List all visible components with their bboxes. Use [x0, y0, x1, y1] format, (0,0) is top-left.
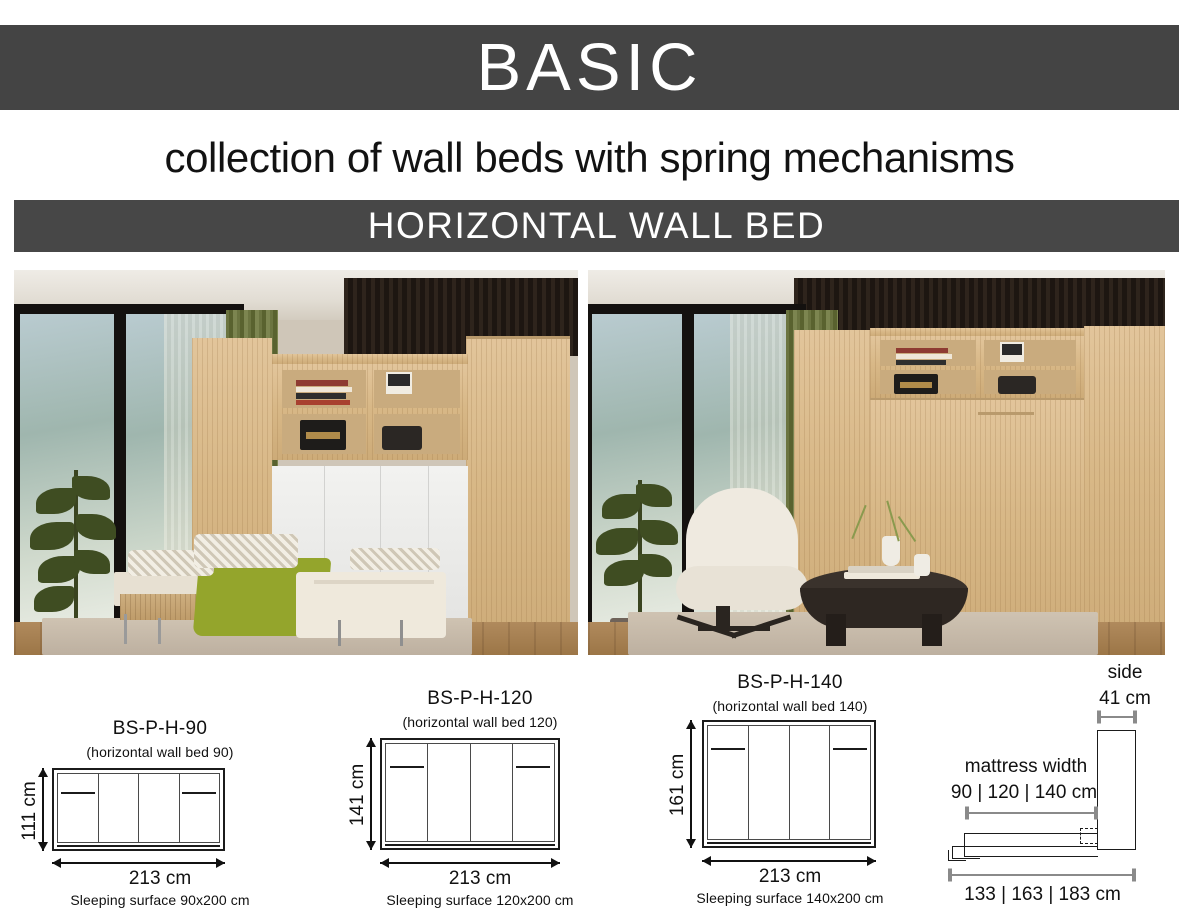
page-title: BASIC — [476, 34, 702, 101]
mattress-width-dimension — [965, 806, 1098, 820]
photo-gallery — [14, 270, 1165, 655]
cabinet-door — [99, 774, 140, 842]
cabinet-door — [749, 726, 790, 839]
page-subtitle: collection of wall beds with spring mech… — [0, 126, 1179, 190]
sleeping-surface-label: Sleeping surface 140x200 cm — [640, 890, 940, 906]
cabinet-front-view — [380, 738, 560, 850]
cabinet-door — [180, 774, 220, 842]
total-depth-dimension — [948, 868, 1136, 882]
spec-subtitle: (horizontal wall bed 120) — [320, 714, 640, 730]
section-title: HORIZONTAL WALL BED — [368, 205, 826, 247]
height-label: 161 cm — [667, 745, 689, 825]
width-label: 213 cm — [0, 868, 320, 890]
spec-diagrams: BS-P-H-90 (horizontal wall bed 90) 111 c… — [0, 660, 1179, 909]
cabinet-door — [58, 774, 99, 842]
catalog-page: BASIC collection of wall beds with sprin… — [0, 0, 1179, 909]
side-depth-dimension — [1097, 710, 1137, 724]
cabinet-door — [830, 726, 870, 839]
side-cabinet-body — [1097, 730, 1136, 850]
brand-title-bar: BASIC — [0, 25, 1179, 110]
spec-side-view: side 41 cm mattress width 90 | 120 | 140… — [940, 660, 1179, 909]
spec-subtitle: (horizontal wall bed 140) — [640, 698, 940, 714]
spec-code: BS-P-H-90 — [0, 718, 320, 740]
cabinet-door — [386, 744, 428, 841]
spec-code: BS-P-H-120 — [320, 688, 640, 710]
spec-bs-p-h-90: BS-P-H-90 (horizontal wall bed 90) 111 c… — [0, 660, 320, 909]
width-label: 213 cm — [640, 866, 940, 888]
photo-wall-bed-closed — [588, 270, 1165, 655]
cabinet-front-view — [52, 768, 225, 851]
sleeping-surface-label: Sleeping surface 120x200 cm — [320, 892, 640, 908]
spec-bs-p-h-140: BS-P-H-140 (horizontal wall bed 140) 161… — [640, 660, 940, 909]
height-label: 111 cm — [19, 771, 41, 851]
side-depth-label: 41 cm — [1080, 688, 1170, 710]
sleeping-surface-label: Sleeping surface 90x200 cm — [0, 892, 320, 908]
cabinet-door — [513, 744, 554, 841]
height-label: 141 cm — [347, 755, 369, 835]
cabinet-door — [790, 726, 831, 839]
mattress-width-values: 90 | 120 | 140 cm — [948, 782, 1100, 804]
mechanism-bracket — [1080, 828, 1098, 844]
cabinet-door — [471, 744, 513, 841]
cabinet-door — [139, 774, 180, 842]
width-label: 213 cm — [320, 868, 640, 890]
photo-wall-bed-open — [14, 270, 578, 655]
cabinet-front-view — [702, 720, 876, 848]
mattress-width-label: mattress width — [956, 756, 1096, 778]
side-view-title: side — [1090, 662, 1160, 684]
section-title-bar: HORIZONTAL WALL BED — [14, 200, 1179, 252]
spec-subtitle: (horizontal wall bed 90) — [0, 744, 320, 760]
spec-code: BS-P-H-140 — [640, 672, 940, 694]
cabinet-door — [708, 726, 749, 839]
cabinet-door — [428, 744, 470, 841]
spec-bs-p-h-120: BS-P-H-120 (horizontal wall bed 120) 141… — [320, 660, 640, 909]
total-depth-label: 133 | 163 | 183 cm — [940, 884, 1145, 906]
